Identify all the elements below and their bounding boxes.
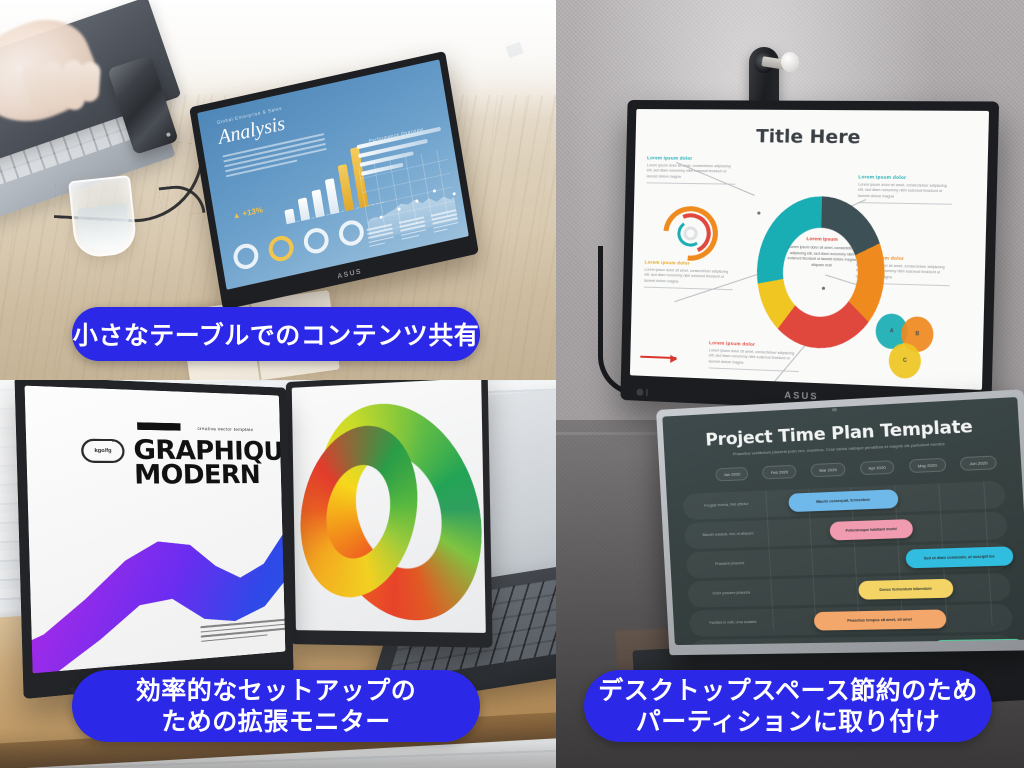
- badge-stamp: kgo/fg: [81, 439, 125, 464]
- portable-monitor-mounted: Title Here Lorem ipsum dolor Lorem ipsum…: [620, 100, 999, 417]
- month-chip: Apr 2020: [860, 460, 895, 475]
- donut-center-text: Lorem Ipsum Lorem ipsum dolor sit amet, …: [787, 237, 857, 270]
- monitor-screen-infographic: Title Here Lorem ipsum dolor Lorem ipsum…: [630, 109, 989, 390]
- phone-camera-icon: [166, 132, 171, 137]
- venn-diagram-top: A B C: [874, 313, 962, 390]
- red-arrow-icon: [640, 356, 676, 359]
- mini-ring-chart: [663, 206, 719, 262]
- venn-circle-b: B: [867, 387, 900, 390]
- venn-circle-a: A: [846, 386, 879, 390]
- portable-monitor-rainbow: [286, 380, 493, 648]
- monitor-bezel: Title Here Lorem ipsum dolor Lorem ipsum…: [620, 100, 999, 417]
- caption-small-table: 小さなテーブルでのコンテンツ共有: [72, 307, 480, 361]
- poster-eyebrow: creative vector template: [197, 426, 253, 432]
- donut-center-heading: Lorem Ipsum: [788, 237, 857, 244]
- kpi-ring: [232, 241, 261, 271]
- note-heading: Lorem ipsum dolor: [647, 155, 736, 161]
- laptop-screen-timeplan: Project Time Plan Template Phasellus ves…: [662, 397, 1024, 645]
- caption-partition-mount: デスクトップスペース節約のため パーティションに取り付け: [584, 670, 992, 742]
- task-label: Blandit volutpat, nisl, ut aliquam: [695, 531, 762, 539]
- kpi-delta: ▲ +13%: [232, 205, 264, 221]
- laptop-display: Project Time Plan Template Phasellus ves…: [656, 389, 1024, 655]
- month-chip: Jun 2020: [960, 456, 997, 471]
- poster-body-lines: [200, 618, 285, 645]
- panel-partition-mounted-monitor: Title Here Lorem ipsum dolor Lorem ipsum…: [556, 0, 1024, 768]
- task-label: Feugiat viverra, Nisl efficitur: [693, 501, 760, 509]
- note-body: Lorem ipsum dolor sit amet, consectetuer…: [644, 267, 733, 286]
- gantt-bar: Sed ut diam commodo, ut suscipit leo: [905, 546, 1013, 568]
- task-label: Dolor posuere pharetra: [698, 590, 765, 597]
- portable-monitor-graphique: kgo/fg creative vector template GRAPHIQU…: [14, 380, 293, 699]
- gantt-rows: Feugiat viverra, Nisl efficitur Mauris c…: [683, 481, 1013, 631]
- gantt-bar: Mauris pellentesque posuere pharetra: [932, 639, 1024, 645]
- kpi-donut-rings: [232, 218, 366, 271]
- water-glass: [68, 175, 138, 259]
- gantt-bar: Donec fermentum bibendum: [858, 579, 954, 600]
- monitor-bezel: [286, 380, 493, 648]
- gradient-wave-graphic: [25, 465, 286, 674]
- note-heading: Lorem ipsum dolor: [858, 174, 952, 181]
- gantt-bar: Phasellus tempus sit amet, sit amet: [814, 609, 947, 630]
- venn-circle-c: C: [888, 388, 921, 390]
- image-collage: Global Enterprise & Sales Analysis ▲ +13…: [0, 0, 1024, 768]
- kpi-ring: [302, 226, 331, 256]
- mount-cap: [781, 52, 799, 72]
- decorative-dash: [137, 422, 181, 430]
- donut-center-body: Lorem ipsum dolor sit amet, consectetuer…: [787, 245, 857, 270]
- webcam-icon: [832, 408, 837, 411]
- task-label: Praesent pharetra: [696, 560, 763, 567]
- month-chip: Jan 2020: [715, 467, 749, 482]
- month-chip: Feb 2020: [762, 465, 797, 480]
- monitor-bezel: kgo/fg creative vector template GRAPHIQU…: [14, 380, 293, 699]
- venn-circle-c: C: [888, 343, 921, 380]
- timeline-month-headers: Jan 2020 Feb 2020 Mar 2020 Apr 2020 May …: [715, 455, 997, 481]
- month-chip: May 2020: [909, 458, 946, 473]
- monitor-screen-graphique: kgo/fg creative vector template GRAPHIQU…: [25, 386, 286, 674]
- poster-title-line2: MODERN: [134, 459, 261, 490]
- gantt-row: Aliquam ultricies Mauris pellentesque po…: [691, 635, 1015, 645]
- gantt-bar: Pellentesque habitant morbi: [829, 519, 913, 541]
- slide-note-top-right: Lorem ipsum dolor Lorem ipsum dolor sit …: [858, 174, 953, 205]
- slide-title: Title Here: [635, 125, 988, 150]
- water: [77, 203, 131, 252]
- note-body: Lorem ipsum dolor sit amet, consectetuer…: [709, 348, 800, 368]
- laptop-bezel: Project Time Plan Template Phasellus ves…: [656, 389, 1024, 655]
- note-body: Lorem ipsum dolor sit amet, consectetuer…: [858, 182, 953, 201]
- note-body: Lorem ipsum dolor sit amet, consectetuer…: [647, 163, 736, 181]
- gantt-row: Facilisis in velit, urna sodales Phasell…: [689, 604, 1013, 637]
- gantt-bar: Mauris consequat, fermentum: [788, 489, 898, 512]
- task-label: Facilisis in velit, urna sodales: [700, 619, 767, 626]
- kpi-ring: [337, 218, 366, 248]
- caption-efficient-setup: 効率的なセットアップの ための拡張モニター: [72, 670, 480, 742]
- kpi-ring-accent: [267, 234, 296, 264]
- monitor-screen-rainbow: [292, 380, 486, 633]
- donut-chart: [755, 195, 886, 350]
- month-chip: Mar 2020: [811, 462, 846, 477]
